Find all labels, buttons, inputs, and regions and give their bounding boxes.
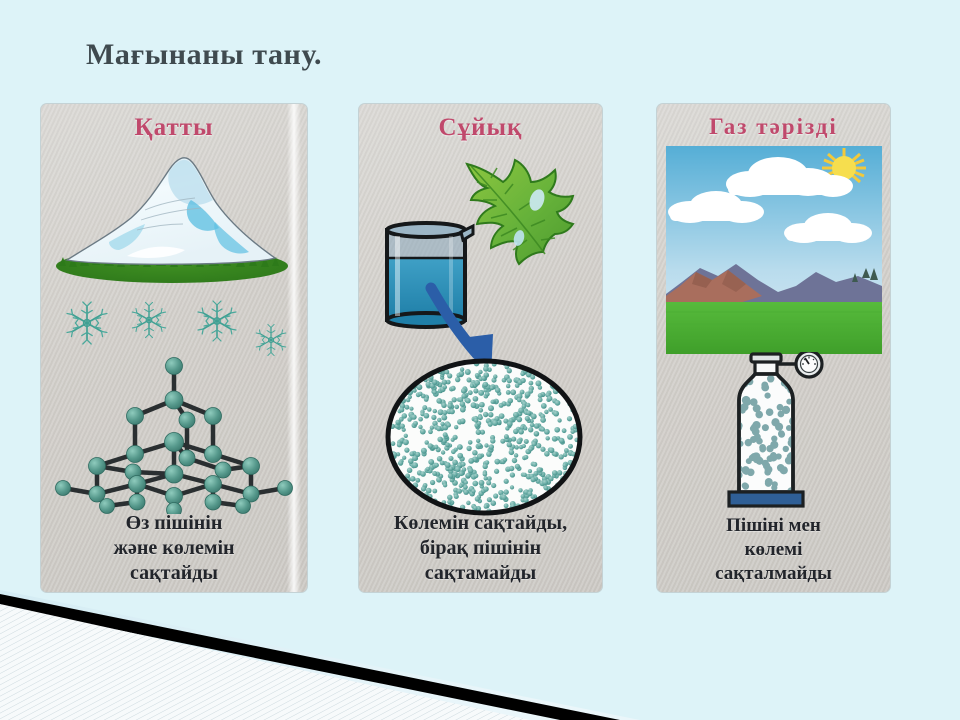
particle-circle-icon <box>381 354 587 520</box>
panel-gas-caption: Пішіні мен көлемі сақталмайды <box>661 514 886 586</box>
panel-liquid[interactable]: Сұйық <box>359 104 602 592</box>
panel-solid-heading: Қатты <box>41 114 307 142</box>
panel-gas-heading: Газ тәрізді <box>657 114 890 140</box>
landscape-scene-icon <box>666 146 882 354</box>
panel-liquid-caption: Көлемін сақтайды, бірақ пішінін сақтамай… <box>363 511 598 586</box>
snowflakes-icon <box>57 296 297 356</box>
snow-mountain-icon <box>49 148 299 290</box>
panel-solid-caption: Өз пішінін және көлемін сақтайды <box>45 511 303 586</box>
slide-canvas: Мағынаны тану. Қатты <box>0 0 960 720</box>
crystal-lattice-icon <box>47 354 301 514</box>
panel-gas[interactable]: Газ тәрізді <box>657 104 890 592</box>
panel-solid[interactable]: Қатты <box>41 104 307 592</box>
gas-cylinder-icon <box>709 352 839 516</box>
panel-liquid-heading: Сұйық <box>359 114 602 142</box>
page-title: Мағынаны тану. <box>86 38 322 72</box>
